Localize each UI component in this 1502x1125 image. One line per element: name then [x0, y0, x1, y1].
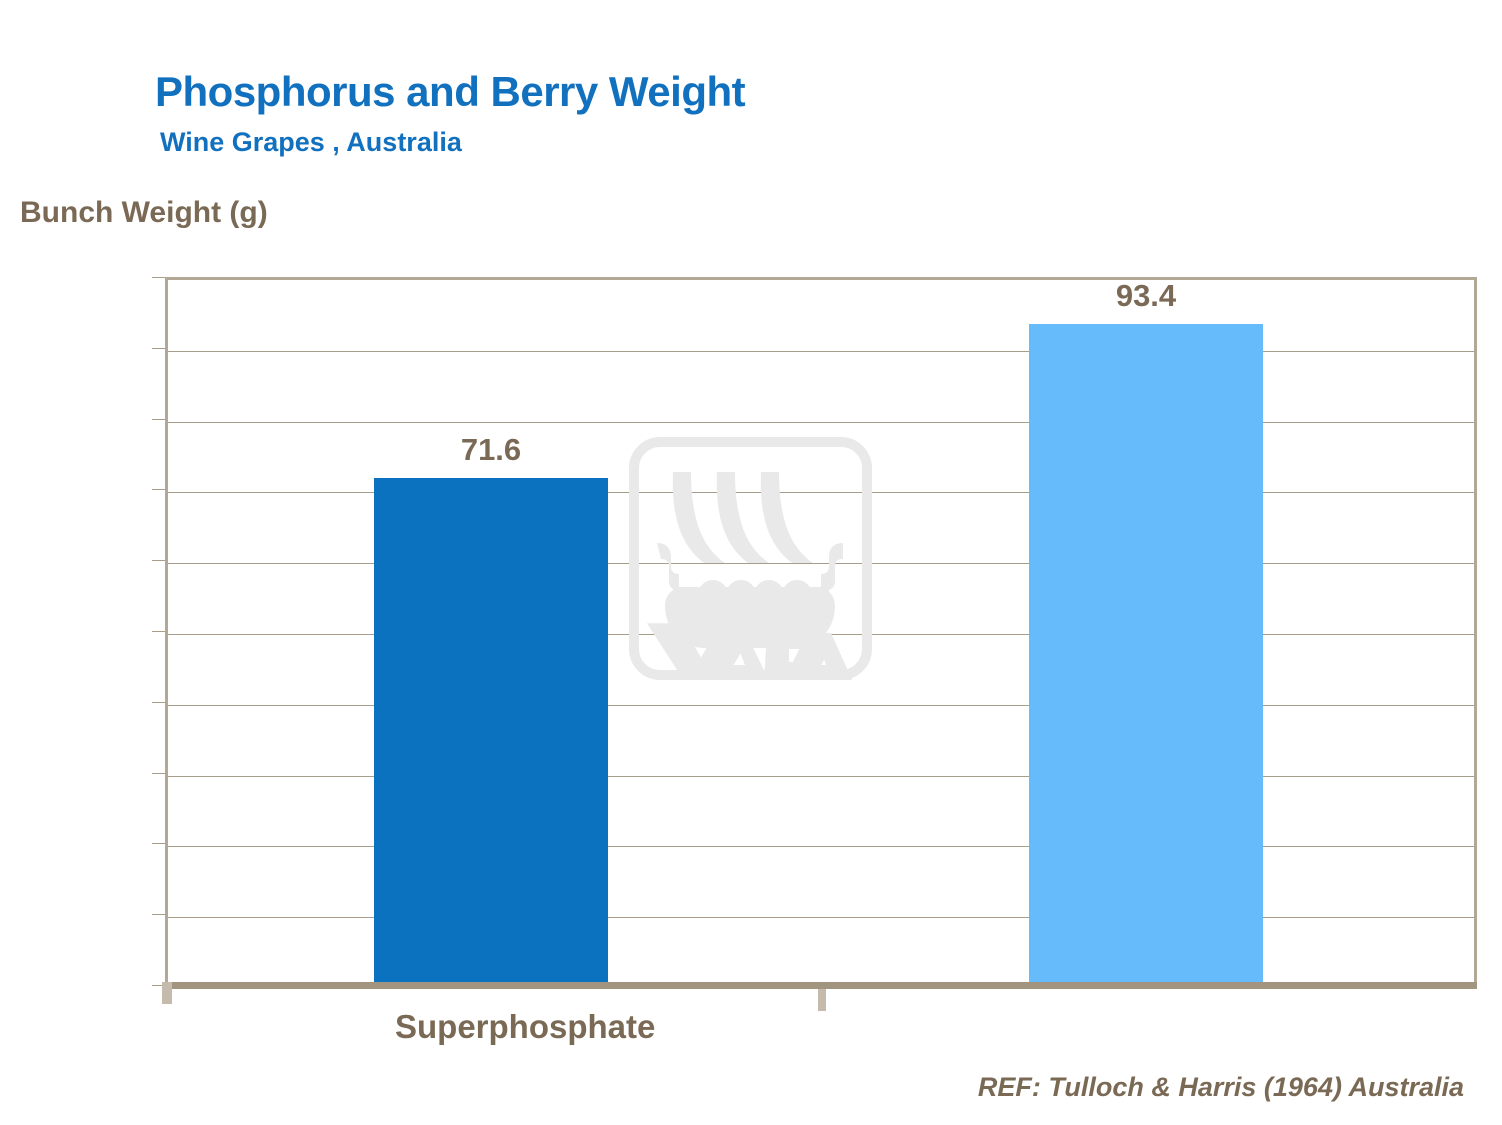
y-axis-tick-mark: [152, 843, 165, 844]
y-axis-tick-mark: [152, 631, 165, 632]
x-axis-label-superphosphate: Superphosphate: [395, 1008, 655, 1046]
y-axis-tick-mark: [152, 277, 165, 278]
bar-control[interactable]: [374, 478, 608, 985]
y-axis-tick-mark: [152, 489, 165, 490]
y-axis-tick-mark: [152, 419, 165, 420]
bar-superphosphate[interactable]: [1029, 324, 1263, 985]
bar-value-label: 93.4: [1029, 278, 1263, 314]
reference-note: REF: Tulloch & Harris (1964) Australia: [978, 1072, 1464, 1103]
x-axis-line: [165, 982, 1477, 989]
y-axis-tick-mark: [152, 773, 165, 774]
y-axis-tick-mark: [152, 702, 165, 703]
chart-subtitle: Wine Grapes , Australia: [160, 127, 462, 158]
y-axis-tick-mark: [152, 914, 165, 915]
bars-layer: 71.693.4: [165, 277, 1477, 985]
y-axis-tick-mark: [152, 560, 165, 561]
y-axis: 1009080706050403020100: [0, 0, 165, 1125]
y-axis-origin-cap: [162, 982, 172, 1004]
bar-value-label: 71.6: [374, 432, 608, 468]
chart-title: Phosphorus and Berry Weight: [155, 68, 745, 116]
y-axis-tick-mark: [152, 348, 165, 349]
x-axis-category-tick: [818, 989, 826, 1011]
